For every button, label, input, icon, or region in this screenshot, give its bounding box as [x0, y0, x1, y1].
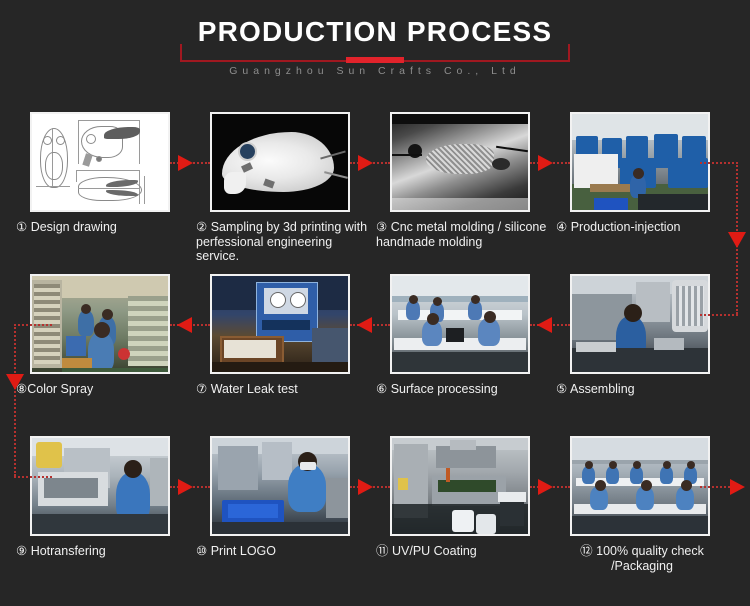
- step-caption-5: ⑤ Assembling: [556, 382, 728, 397]
- step-label-4: Production-injection: [571, 220, 681, 234]
- quality-check-packaging-photo: [570, 436, 710, 536]
- assembling-photo: [570, 274, 710, 374]
- step-number-9: ⑨: [16, 544, 31, 558]
- step-caption-2: ② Sampling by 3d printing with perfessio…: [196, 220, 368, 264]
- wrap-right-top-segment: [700, 162, 738, 164]
- header-accent-bar: [346, 57, 404, 63]
- uv-pu-coating-photo: [390, 436, 530, 536]
- arrow-left-icon-2: [357, 317, 372, 333]
- step-card-7[interactable]: ⑦ Water Leak test: [190, 266, 370, 426]
- step-card-12[interactable]: ⑫ 100% quality check /Packaging: [550, 428, 730, 588]
- process-row-1: ① Design drawing ② Sampling by 3d printi: [0, 104, 750, 264]
- step-number-12: ⑫: [580, 544, 596, 558]
- step-card-10[interactable]: ⑩ Print LOGO: [190, 428, 370, 588]
- step-number-6: ⑥: [376, 382, 391, 396]
- design-drawing-photo: [30, 112, 170, 212]
- 3d-printing-sample-photo: [210, 112, 350, 212]
- step-card-9[interactable]: ⑨ Hotransfering: [10, 428, 190, 588]
- step-card-6[interactable]: ⑥ Surface processing: [370, 266, 550, 426]
- step-label-5: Assembling: [570, 382, 635, 396]
- step-label-2: Sampling by 3d printing with perfessiona…: [196, 220, 367, 263]
- production-injection-photo: [570, 112, 710, 212]
- arrow-down-icon-left: [6, 374, 24, 390]
- step-number-11: ⑪: [376, 544, 392, 558]
- step-caption-10: ⑩ Print LOGO: [196, 544, 368, 559]
- cnc-metal-molding-photo: [390, 112, 530, 212]
- arrow-right-icon-tail: [730, 479, 745, 495]
- step-caption-12: ⑫ 100% quality check /Packaging: [556, 544, 728, 573]
- step-number-1: ①: [16, 220, 31, 234]
- hot-transfering-photo: [30, 436, 170, 536]
- arrow-right-icon-1: [178, 155, 193, 171]
- company-name: Guangzhou Sun Crafts Co., Ltd: [0, 65, 750, 77]
- wrap-right-bottom-segment: [700, 314, 738, 316]
- step-card-8[interactable]: ⑧Color Spray: [10, 266, 190, 426]
- step-card-2[interactable]: ② Sampling by 3d printing with perfessio…: [190, 104, 370, 264]
- step-caption-3: ③ Cnc metal molding / silicone handmade …: [376, 220, 548, 249]
- water-leak-test-photo: [210, 274, 350, 374]
- step-label-9: Hotransfering: [31, 544, 106, 558]
- print-logo-photo: [210, 436, 350, 536]
- step-caption-4: ④ Production-injection: [556, 220, 728, 235]
- step-card-11[interactable]: ⑪ UV/PU Coating: [370, 428, 550, 588]
- header: PRODUCTION PROCESS Guangzhou Sun Crafts …: [0, 0, 750, 98]
- header-bracket-right-horizontal: [402, 60, 570, 62]
- step-label-1: Design drawing: [31, 220, 117, 234]
- step-card-3[interactable]: ③ Cnc metal molding / silicone handmade …: [370, 104, 550, 264]
- step-label-8: Color Spray: [27, 382, 93, 396]
- step-number-4: ④: [556, 220, 571, 234]
- step-label-11: UV/PU Coating: [392, 544, 477, 558]
- process-row-2: ⑧Color Spray ⑦ W: [0, 266, 750, 426]
- step-number-5: ⑤: [556, 382, 570, 396]
- wrap-left-top-segment: [14, 324, 52, 326]
- step-label-3: Cnc metal molding / silicone handmade mo…: [376, 220, 546, 249]
- step-number-2: ②: [196, 220, 211, 234]
- step-caption-8: ⑧Color Spray: [16, 382, 188, 397]
- arrow-right-icon-3: [538, 155, 553, 171]
- page-title: PRODUCTION PROCESS: [0, 16, 750, 48]
- wrap-left-vertical: [14, 324, 16, 476]
- step-label-12: 100% quality check /Packaging: [596, 544, 704, 573]
- step-label-7: Water Leak test: [211, 382, 298, 396]
- step-caption-6: ⑥ Surface processing: [376, 382, 548, 397]
- step-number-10: ⑩: [196, 544, 211, 558]
- header-bracket-left-horizontal: [180, 60, 348, 62]
- arrow-right-icon-2: [358, 155, 373, 171]
- production-process-infographic: PRODUCTION PROCESS Guangzhou Sun Crafts …: [0, 0, 750, 606]
- step-card-5[interactable]: ⑤ Assembling: [550, 266, 730, 426]
- arrow-right-icon-6: [538, 479, 553, 495]
- process-row-3: ⑨ Hotransfering: [0, 428, 750, 588]
- step-caption-9: ⑨ Hotransfering: [16, 544, 188, 559]
- step-label-10: Print LOGO: [211, 544, 276, 558]
- step-card-4[interactable]: ④ Production-injection: [550, 104, 730, 264]
- arrow-right-icon-5: [358, 479, 373, 495]
- arrow-left-icon-3: [537, 317, 552, 333]
- step-number-7: ⑦: [196, 382, 211, 396]
- step-number-3: ③: [376, 220, 391, 234]
- step-caption-1: ① Design drawing: [16, 220, 188, 235]
- wrap-left-bottom-segment: [14, 476, 52, 478]
- step-caption-11: ⑪ UV/PU Coating: [376, 544, 548, 559]
- step-label-6: Surface processing: [391, 382, 498, 396]
- arrow-down-icon-right: [728, 232, 746, 248]
- step-card-1[interactable]: ① Design drawing: [10, 104, 190, 264]
- surface-processing-photo: [390, 274, 530, 374]
- arrow-left-icon-1: [177, 317, 192, 333]
- step-caption-7: ⑦ Water Leak test: [196, 382, 368, 397]
- arrow-right-icon-4: [178, 479, 193, 495]
